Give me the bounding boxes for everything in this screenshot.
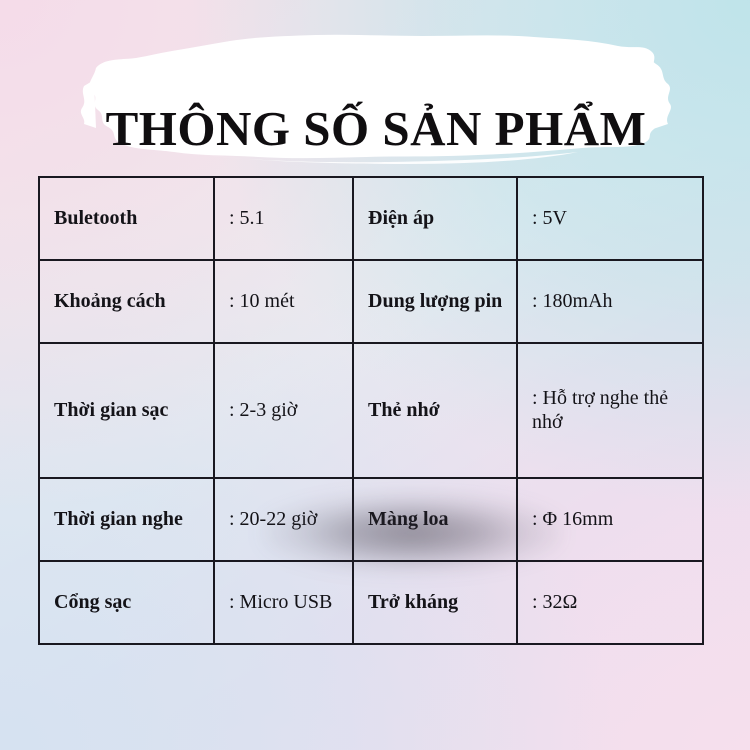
product-spec-poster: THÔNG SỐ SẢN PHẨM Buletooth : 5.1 Điện á… [0,0,750,750]
spec-key-battery-capacity: Dung lượng pin [353,260,517,343]
table-row: Buletooth : 5.1 Điện áp : 5V [39,177,703,260]
spec-value-charge-time: : 2-3 giờ [214,343,353,479]
spec-key-charge-time: Thời gian sạc [39,343,214,479]
spec-value-impedance: : 32Ω [517,561,703,644]
spec-value-memory-card: : Hỗ trợ nghe thẻ nhớ [517,343,703,479]
spec-value-listening-time: : 20-22 giờ [214,478,353,561]
table-row: Thời gian sạc : 2-3 giờ Thẻ nhớ : Hỗ trợ… [39,343,703,479]
table-row: Cổng sạc : Micro USB Trở kháng : 32Ω [39,561,703,644]
product-spec-table: Buletooth : 5.1 Điện áp : 5V Khoảng cách… [38,176,704,645]
spec-key-voltage: Điện áp [353,177,517,260]
spec-table-body: Buletooth : 5.1 Điện áp : 5V Khoảng cách… [39,177,703,644]
spec-key-listening-time: Thời gian nghe [39,478,214,561]
spec-key-memory-card: Thẻ nhớ [353,343,517,479]
spec-key-charging-port: Cổng sạc [39,561,214,644]
spec-key-speaker-driver: Màng loa [353,478,517,561]
spec-value-voltage: : 5V [517,177,703,260]
table-row: Thời gian nghe : 20-22 giờ Màng loa : Φ … [39,478,703,561]
spec-value-charging-port: : Micro USB [214,561,353,644]
table-row: Khoảng cách : 10 mét Dung lượng pin : 18… [39,260,703,343]
spec-table-container: Buletooth : 5.1 Điện áp : 5V Khoảng cách… [38,176,702,645]
spec-key-impedance: Trở kháng [353,561,517,644]
spec-value-battery-capacity: : 180mAh [517,260,703,343]
spec-value-distance: : 10 mét [214,260,353,343]
spec-value-speaker-driver: : Φ 16mm [517,478,703,561]
spec-key-distance: Khoảng cách [39,260,214,343]
spec-value-bluetooth: : 5.1 [214,177,353,260]
spec-key-bluetooth: Buletooth [39,177,214,260]
